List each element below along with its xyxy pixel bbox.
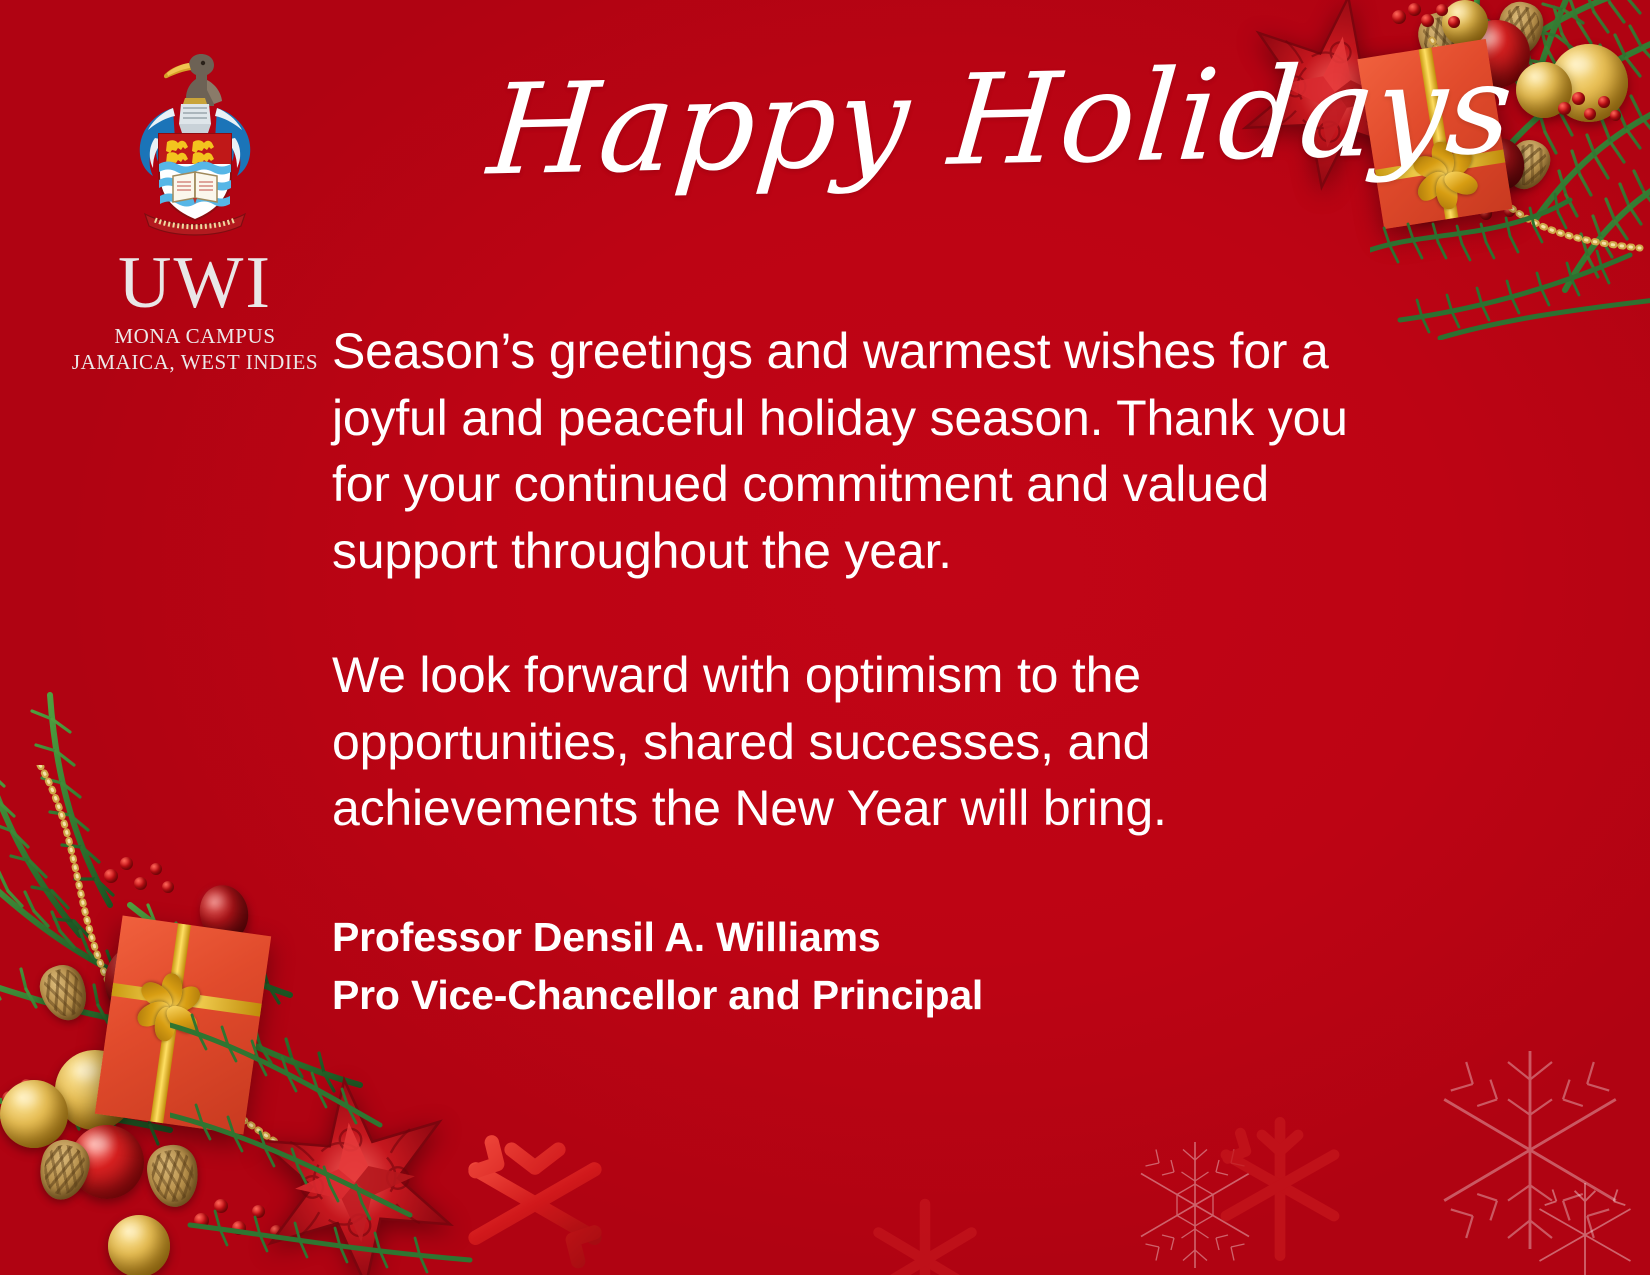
pine-cone (34, 959, 94, 1027)
red-berries (0, 1075, 110, 1135)
red-ornament-ball (194, 880, 254, 946)
pine-cone (33, 1135, 94, 1205)
gold-ornament-ball (55, 1050, 135, 1130)
red-ornament-ball (70, 1125, 144, 1199)
fir-branch (1370, 160, 1650, 340)
message-body: Season’s greetings and warmest wishes fo… (332, 318, 1407, 1024)
red-ornament-ball (99, 940, 170, 1019)
red-glitter-snowflake (410, 1110, 660, 1275)
gold-ornament-ball (0, 1080, 68, 1148)
uwi-logo: UWI MONA CAMPUS JAMAICA, WEST INDIES (70, 46, 320, 375)
red-berries (1388, 0, 1468, 40)
message-paragraph-2: We look forward with optimism to the opp… (332, 642, 1407, 842)
red-berries (1466, 188, 1536, 234)
uwi-campus-label: MONA CAMPUS (70, 324, 320, 349)
signature-title: Pro Vice-Chancellor and Principal (332, 966, 1407, 1024)
gold-ornament-ball (108, 1215, 170, 1275)
gift-ribbon-horizontal (111, 983, 261, 1017)
gold-ornament-ball (1516, 62, 1572, 118)
shield (159, 134, 231, 220)
white-etched-snowflake (1500, 1170, 1650, 1275)
snowflake-decor-bottom (0, 1020, 1650, 1275)
fir-branch (170, 1005, 500, 1275)
red-berries (190, 1195, 310, 1255)
uwi-acronym: UWI (70, 248, 320, 318)
headline-happy-holidays: Happy Holidays (483, 44, 1217, 203)
message-paragraph-1: Season’s greetings and warmest wishes fo… (332, 318, 1407, 584)
uwi-location-label: JAMAICA, WEST INDIES (70, 350, 320, 375)
red-berries (1556, 90, 1636, 136)
red-glitter-star-ornament (240, 1075, 470, 1275)
signature-block: Professor Densil A. Williams Pro Vice-Ch… (332, 908, 1407, 1024)
red-glitter-snowflake (1180, 1090, 1380, 1270)
gold-bead-garland (20, 765, 320, 1185)
open-book-icon (173, 172, 217, 204)
red-glitter-snowflake (830, 1180, 1020, 1275)
gift-ribbon-vertical (150, 923, 191, 1123)
uwi-crest-icon (114, 46, 276, 242)
red-gift-box-with-gold-bow (95, 916, 271, 1135)
pine-cone (144, 1142, 202, 1210)
gold-ornament-ball (1550, 44, 1628, 122)
red-berries (100, 855, 190, 913)
signature-name: Professor Densil A. Williams (332, 908, 1407, 966)
white-etched-snowflake (1080, 1130, 1310, 1275)
holiday-greeting-card: UWI MONA CAMPUS JAMAICA, WEST INDIES Hap… (0, 0, 1650, 1275)
gift-bow-icon (129, 960, 211, 1036)
white-etched-snowflake (1390, 1040, 1650, 1260)
